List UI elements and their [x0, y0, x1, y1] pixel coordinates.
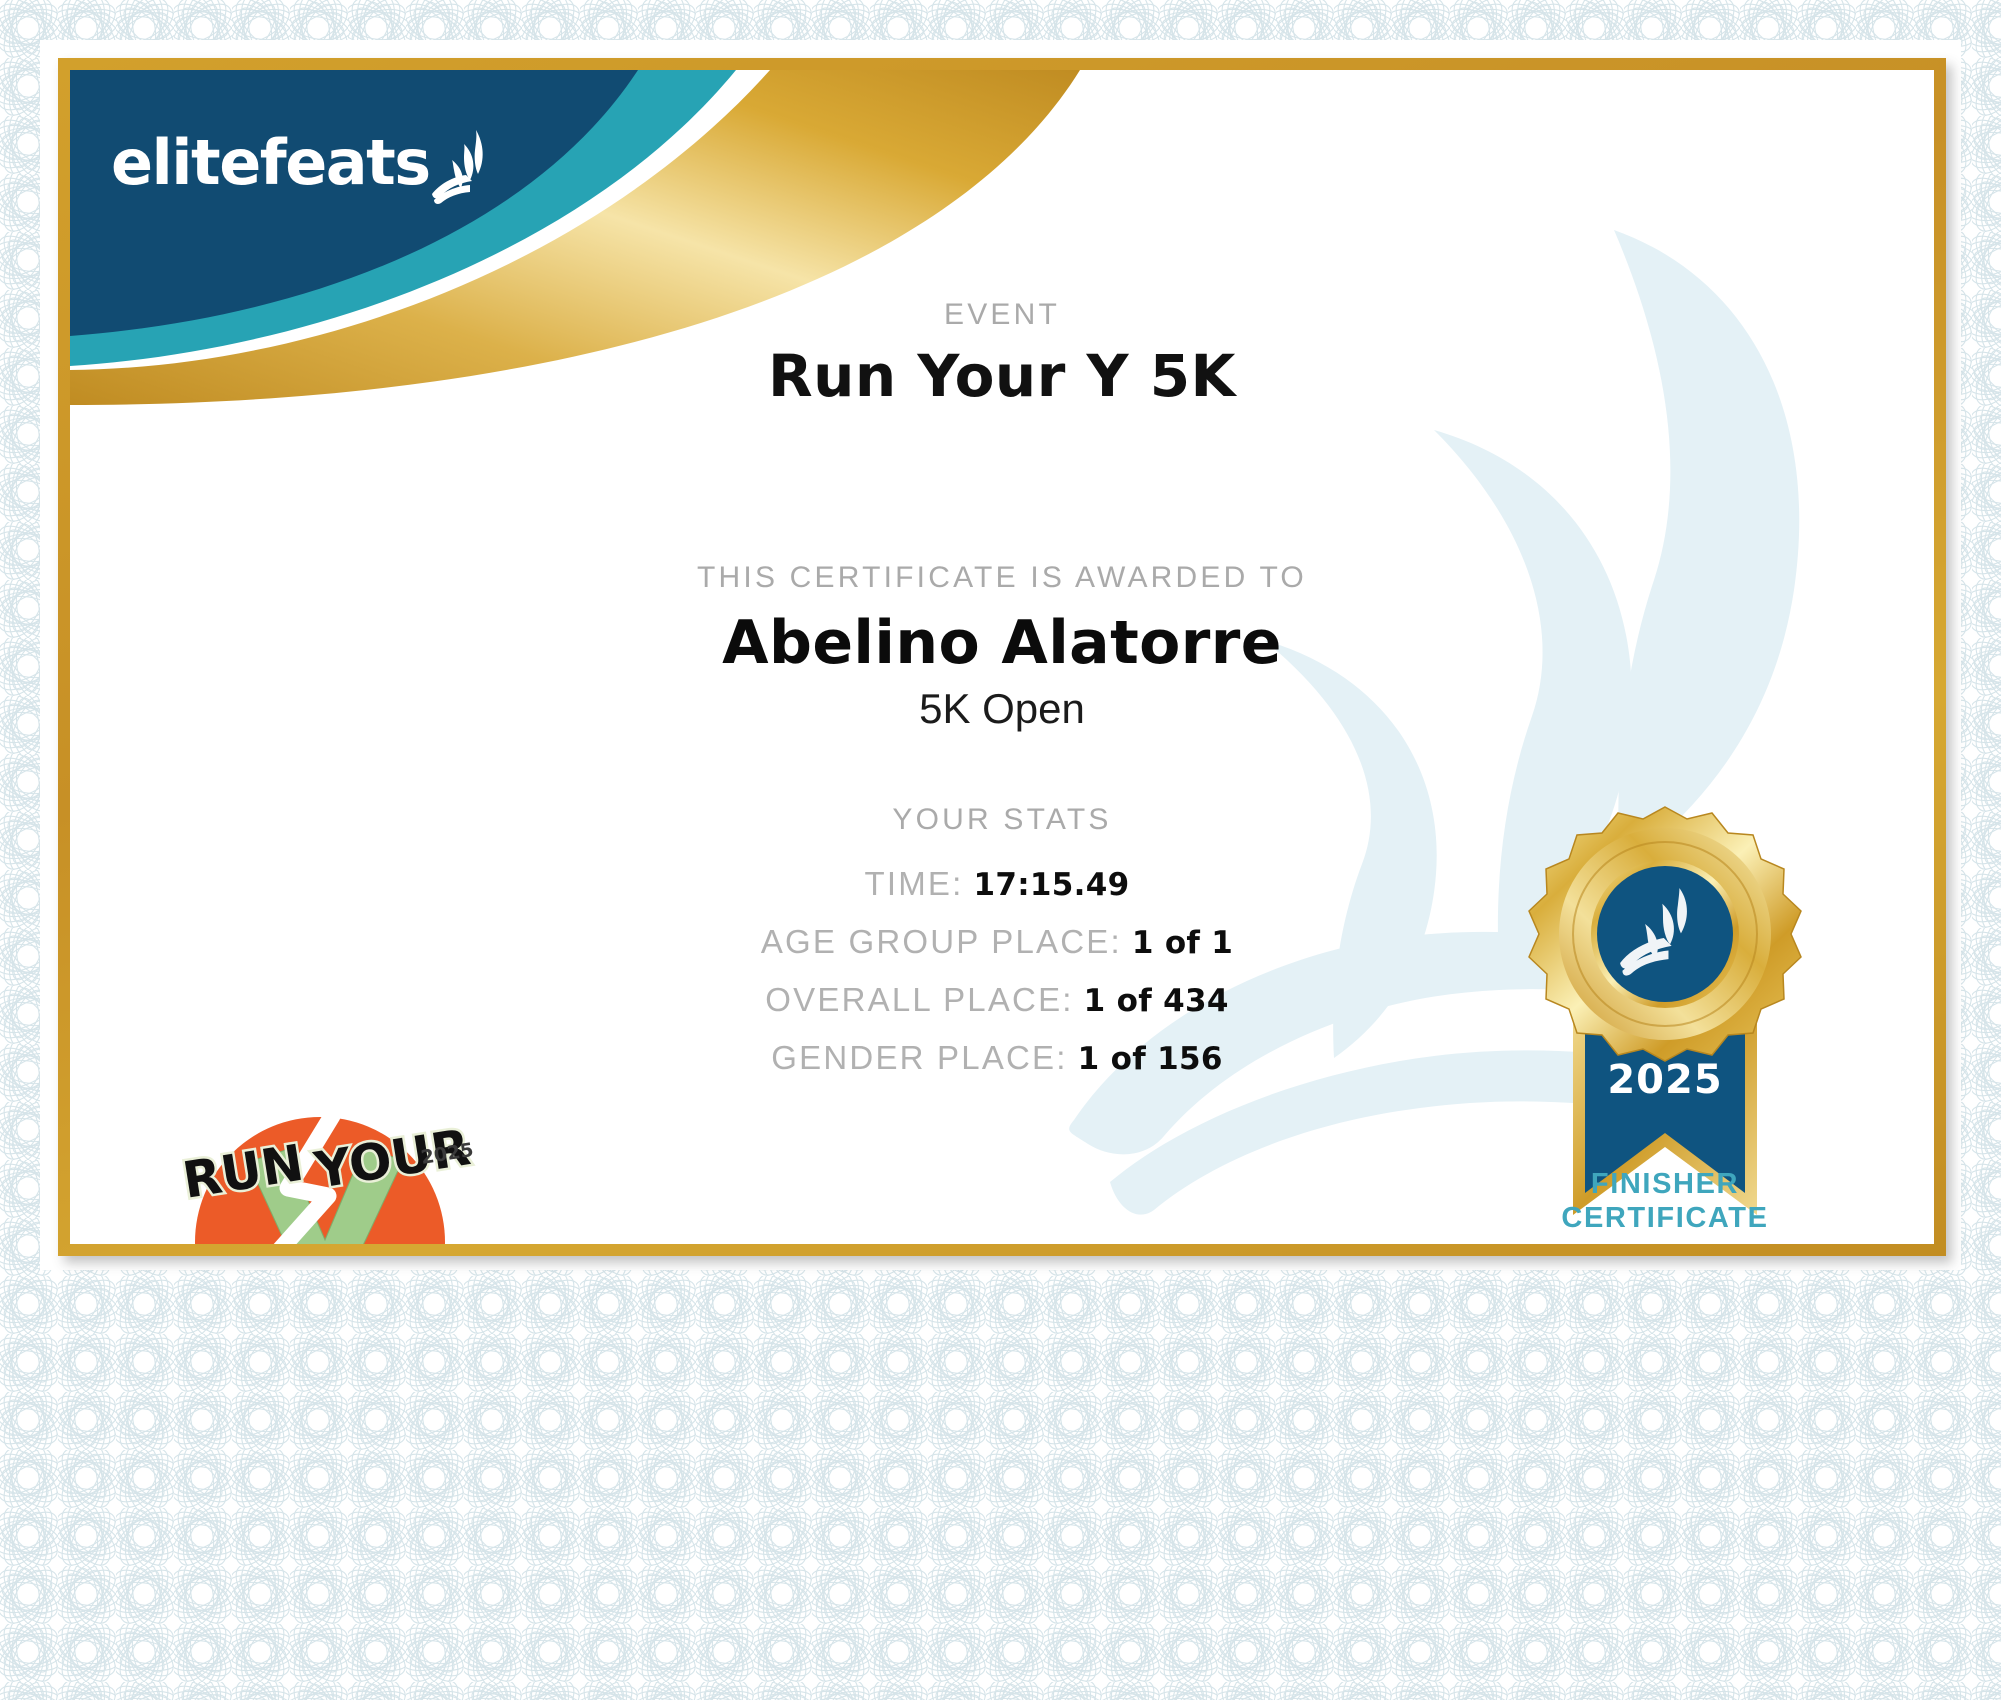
finisher-caption-line2: CERTIFICATE: [1495, 1202, 1835, 1236]
stat-key: OVERALL PLACE:: [765, 981, 1073, 1019]
stat-value: 1 of 1: [1132, 925, 1233, 961]
stat-value: 1 of 156: [1078, 1041, 1223, 1077]
recipient-name: Abelino Alatorre: [70, 608, 1934, 678]
stat-key: GENDER PLACE:: [771, 1039, 1067, 1077]
stat-value: 1 of 434: [1084, 983, 1229, 1019]
certificate-body: elitefeats EVENT Run Your Y 5K THIS CERT…: [70, 70, 1934, 1244]
certificate-content: EVENT Run Your Y 5K THIS CERTIFICATE IS …: [70, 70, 1934, 1244]
recipient-division: 5K Open: [70, 685, 1934, 733]
event-label: EVENT: [70, 298, 1934, 332]
stat-value: 17:15.49: [974, 867, 1130, 903]
event-name: Run Your Y 5K: [70, 342, 1934, 410]
run-your-y-race-logo: RUN YOUR 2025: [160, 1080, 490, 1244]
awarded-to-label: THIS CERTIFICATE IS AWARDED TO: [70, 561, 1934, 595]
ribbon-year-text: 2025: [1607, 1057, 1722, 1103]
certificate-gold-frame: elitefeats EVENT Run Your Y 5K THIS CERT…: [58, 58, 1946, 1256]
stat-key: TIME:: [865, 865, 964, 903]
finisher-certificate-caption: FINISHER CERTIFICATE: [1495, 1168, 1835, 1235]
finisher-caption-line1: FINISHER: [1495, 1168, 1835, 1202]
medal: [1529, 807, 1801, 1061]
stat-key: AGE GROUP PLACE:: [761, 923, 1122, 961]
certificate-page: elitefeats EVENT Run Your Y 5K THIS CERT…: [0, 0, 2001, 1700]
